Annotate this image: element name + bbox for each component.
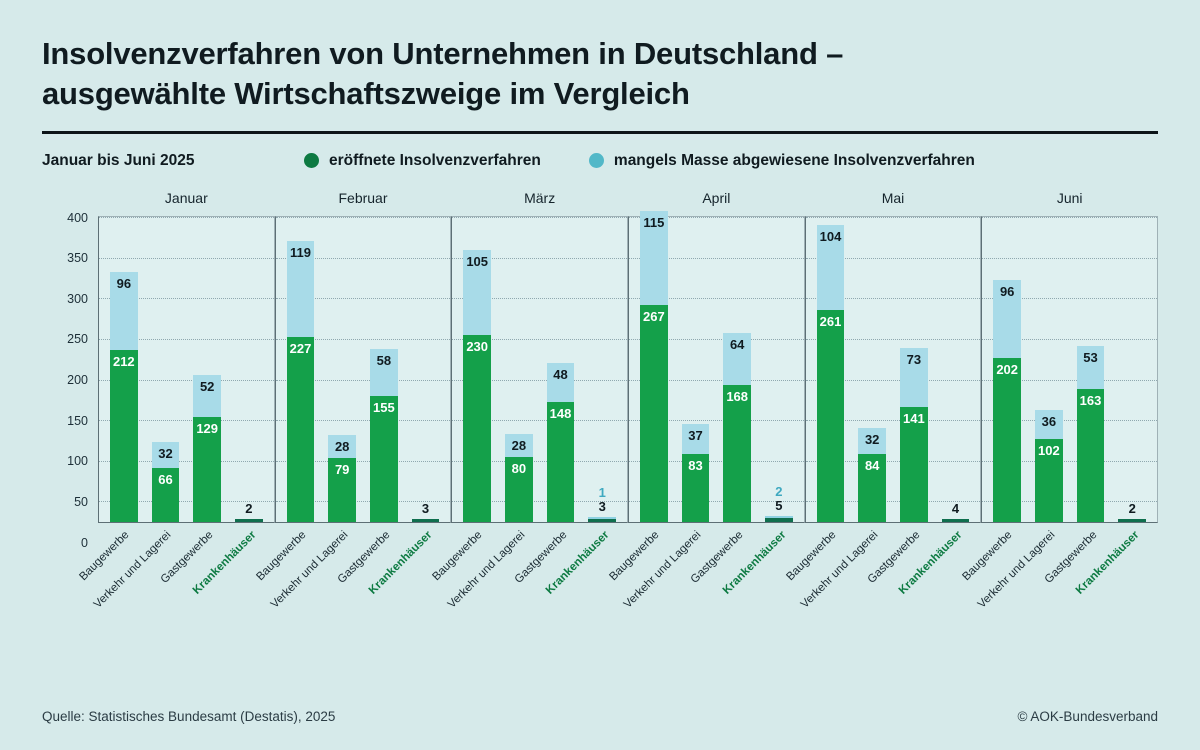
bar-value-green: 5 — [753, 499, 805, 514]
bar-value-green: 83 — [682, 459, 710, 472]
x-axis-labels: BaugewerbeVerkehr und LagereiGastgewerbe… — [451, 523, 628, 610]
bar-column[interactable]: 13 — [581, 217, 623, 522]
bar-segment-green[interactable]: 168 — [723, 385, 751, 522]
bar-value-blue: 104 — [817, 230, 845, 243]
bar-column[interactable]: 104261 — [810, 217, 852, 522]
bar-value-green: 212 — [110, 355, 138, 368]
bar-value-green: 79 — [328, 463, 356, 476]
bar-value-labels: 13 — [576, 486, 628, 517]
bar-value-blue: 1 — [576, 486, 628, 501]
bar-column[interactable]: 2 — [228, 217, 270, 522]
bar-segment-blue[interactable]: 53 — [1077, 346, 1105, 389]
bar-segment-blue[interactable]: 58 — [370, 349, 398, 396]
bar-group: 11526737836416825 — [633, 217, 800, 522]
stacked-bar[interactable]: 58155 — [370, 349, 398, 522]
bar-column[interactable]: 96202 — [986, 217, 1028, 522]
chart: 050100150200250300350400 Januar962123266… — [42, 190, 1158, 610]
panel-title: Februar — [275, 190, 452, 216]
bar-value-blue: 2 — [753, 485, 805, 500]
legend-dot-green-icon — [304, 153, 319, 168]
bar-segment-green[interactable]: 83 — [682, 454, 710, 521]
bar-value-blue: 28 — [328, 440, 356, 453]
bar-segment-blue[interactable]: 105 — [463, 250, 491, 335]
bar-value-green: 168 — [723, 390, 751, 403]
bar-value-labels: 2 — [1106, 502, 1158, 519]
plot-area: 1042613284731414 — [805, 216, 982, 523]
bar-segment-green[interactable] — [1118, 519, 1146, 522]
copyright-note: © AOK-Bundesverband — [1017, 709, 1158, 724]
bar-column[interactable]: 64168 — [716, 217, 758, 522]
bar-segment-green[interactable]: 230 — [463, 335, 491, 522]
stacked-bar[interactable]: 4 — [942, 519, 970, 522]
bar-segment-green[interactable]: 267 — [640, 305, 668, 522]
bar-value-green: 202 — [993, 363, 1021, 376]
bar-segment-green[interactable] — [412, 519, 440, 522]
source-note: Quelle: Statistisches Bundesamt (Destati… — [42, 709, 335, 724]
stacked-bar[interactable]: 3284 — [858, 428, 886, 522]
bar-value-blue: 37 — [682, 429, 710, 442]
bar-value-blue: 53 — [1077, 351, 1105, 364]
bar-group: 1192272879581553 — [280, 217, 447, 522]
bar-value-green: 230 — [463, 340, 491, 353]
stacked-bar[interactable]: 2879 — [328, 435, 356, 522]
bar-column[interactable]: 4 — [935, 217, 977, 522]
bar-segment-green[interactable]: 102 — [1035, 439, 1063, 522]
y-axis-tick-100: 100 — [42, 454, 88, 468]
legend-item-eroeffnete: eröffnete Insolvenzverfahren — [304, 152, 541, 170]
panel-title: März — [451, 190, 628, 216]
bar-column[interactable]: 115267 — [633, 217, 675, 522]
panel-title: Januar — [98, 190, 275, 216]
x-axis-labels: BaugewerbeVerkehr und LagereiGastgewerbe… — [981, 523, 1158, 610]
bar-value-blue: 73 — [900, 353, 928, 366]
bar-value-green: 155 — [370, 401, 398, 414]
chart-panels: Januar962123266521292BaugewerbeVerkehr u… — [98, 190, 1158, 610]
bar-column[interactable]: 73141 — [893, 217, 935, 522]
x-axis-labels: BaugewerbeVerkehr und LagereiGastgewerbe… — [98, 523, 275, 610]
bar-segment-blue[interactable]: 104 — [817, 225, 845, 310]
page-title: Insolvenzverfahren von Unternehmen in De… — [42, 0, 1158, 115]
bar-column[interactable]: 3783 — [675, 217, 717, 522]
legend: Januar bis Juni 2025 eröffnete Insolvenz… — [42, 148, 1158, 174]
bar-value-blue: 119 — [287, 246, 315, 259]
bar-segment-blue[interactable]: 37 — [682, 424, 710, 454]
bar-value-green: 148 — [547, 407, 575, 420]
bar-segment-blue[interactable]: 73 — [900, 348, 928, 407]
bar-segment-blue[interactable]: 32 — [152, 442, 180, 468]
bar-value-green: 84 — [858, 459, 886, 472]
y-axis: 050100150200250300350400 — [42, 190, 88, 515]
bar-value-blue: 32 — [152, 447, 180, 460]
y-axis-tick-250: 250 — [42, 332, 88, 346]
bar-value-green: 227 — [287, 342, 315, 355]
bar-value-blue: 48 — [547, 368, 575, 381]
bar-value-blue: 32 — [858, 433, 886, 446]
bar-column[interactable]: 119227 — [280, 217, 322, 522]
x-axis-labels: BaugewerbeVerkehr und LagereiGastgewerbe… — [805, 523, 982, 610]
x-axis-labels: BaugewerbeVerkehr und LagereiGastgewerbe… — [628, 523, 805, 610]
panel-februar: Februar1192272879581553BaugewerbeVerkehr… — [275, 190, 452, 610]
bar-segment-green[interactable]: 227 — [287, 337, 315, 521]
bar-value-blue: 36 — [1035, 415, 1063, 428]
bar-segment-green[interactable]: 80 — [505, 457, 533, 522]
bar-value-labels: 25 — [753, 485, 805, 516]
bar-value-blue: 96 — [993, 285, 1021, 298]
panel-märz: März10523028804814813BaugewerbeVerkehr u… — [451, 190, 628, 610]
bar-segment-blue[interactable]: 32 — [858, 428, 886, 454]
stacked-bar[interactable]: 115267 — [640, 211, 668, 521]
bar-value-green: 267 — [640, 310, 668, 323]
bar-value-green: 4 — [930, 502, 982, 517]
bar-column[interactable]: 53163 — [1070, 217, 1112, 522]
title-divider — [42, 131, 1158, 134]
bar-column[interactable]: 105230 — [456, 217, 498, 522]
bar-value-blue: 96 — [110, 277, 138, 290]
bar-value-green: 102 — [1035, 444, 1063, 457]
y-axis-tick-50: 50 — [42, 495, 88, 509]
bar-segment-green[interactable]: 261 — [817, 310, 845, 522]
bar-value-blue: 28 — [505, 439, 533, 452]
y-axis-tick-400: 400 — [42, 211, 88, 225]
bar-column[interactable]: 2 — [1111, 217, 1153, 522]
bar-segment-blue[interactable]: 36 — [1035, 410, 1063, 439]
bar-column[interactable]: 52129 — [186, 217, 228, 522]
bar-column[interactable]: 36102 — [1028, 217, 1070, 522]
stacked-bar[interactable]: 3 — [412, 519, 440, 522]
plot-area: 11526737836416825 — [628, 216, 805, 523]
stacked-bar[interactable]: 2 — [1118, 519, 1146, 522]
stacked-bar[interactable]: 13 — [588, 517, 616, 522]
bar-segment-green[interactable]: 163 — [1077, 389, 1105, 521]
stacked-bar[interactable]: 64168 — [723, 333, 751, 522]
bar-segment-green[interactable] — [765, 518, 793, 522]
stacked-bar[interactable]: 119227 — [287, 241, 315, 522]
legend-label-abgewiesene: mangels Masse abgewiesene Insolvenzverfa… — [614, 152, 975, 170]
bar-group: 1042613284731414 — [810, 217, 977, 522]
y-axis-tick-0: 0 — [42, 536, 88, 550]
stacked-bar[interactable]: 96212 — [110, 272, 138, 522]
bar-value-green: 129 — [193, 422, 221, 435]
bar-value-green: 261 — [817, 315, 845, 328]
bar-segment-blue[interactable]: 115 — [640, 211, 668, 304]
bar-value-green: 2 — [1106, 502, 1158, 517]
stacked-bar[interactable]: 2 — [235, 519, 263, 522]
x-axis-labels: BaugewerbeVerkehr und LagereiGastgewerbe… — [275, 523, 452, 610]
stacked-bar[interactable]: 2880 — [505, 434, 533, 522]
bar-value-green: 80 — [505, 462, 533, 475]
bar-value-green: 2 — [223, 502, 275, 517]
panel-juni: Juni9620236102531632BaugewerbeVerkehr un… — [981, 190, 1158, 610]
bar-segment-blue[interactable]: 96 — [110, 272, 138, 350]
bar-column[interactable]: 48148 — [540, 217, 582, 522]
stacked-bar[interactable]: 3266 — [152, 442, 180, 522]
panel-april: April11526737836416825BaugewerbeVerkehr … — [628, 190, 805, 610]
bar-value-blue: 64 — [723, 338, 751, 351]
bar-column[interactable]: 2879 — [321, 217, 363, 522]
bar-value-green: 141 — [900, 412, 928, 425]
bar-segment-green[interactable]: 202 — [993, 358, 1021, 522]
plot-area: 1192272879581553 — [275, 216, 452, 523]
bar-value-labels: 2 — [223, 502, 275, 519]
bar-segment-green[interactable]: 155 — [370, 396, 398, 522]
stacked-bar[interactable]: 52129 — [193, 375, 221, 522]
bar-value-labels: 3 — [400, 502, 452, 519]
bar-segment-blue[interactable]: 48 — [547, 363, 575, 402]
bar-segment-green[interactable]: 129 — [193, 417, 221, 522]
period-label: Januar bis Juni 2025 — [42, 152, 304, 170]
stacked-bar[interactable]: 36102 — [1035, 410, 1063, 522]
bar-segment-blue[interactable]: 28 — [328, 435, 356, 458]
stacked-bar[interactable]: 104261 — [817, 225, 845, 522]
infographic-page: Insolvenzverfahren von Unternehmen in De… — [0, 0, 1200, 750]
bar-value-green: 3 — [400, 502, 452, 517]
y-axis-tick-200: 200 — [42, 373, 88, 387]
bar-column[interactable]: 96212 — [103, 217, 145, 522]
bar-segment-green[interactable]: 79 — [328, 458, 356, 522]
bar-group: 962123266521292 — [103, 217, 270, 522]
bar-value-green: 66 — [152, 473, 180, 486]
bar-column[interactable]: 3284 — [851, 217, 893, 522]
bar-group: 9620236102531632 — [986, 217, 1153, 522]
bar-segment-blue[interactable]: 28 — [505, 434, 533, 457]
panel-title: Mai — [805, 190, 982, 216]
bar-segment-green[interactable] — [942, 519, 970, 522]
bar-segment-blue[interactable]: 119 — [287, 241, 315, 338]
bar-column[interactable]: 25 — [758, 217, 800, 522]
y-axis-tick-300: 300 — [42, 292, 88, 306]
bar-value-blue: 52 — [193, 380, 221, 393]
legend-dot-blue-icon — [589, 153, 604, 168]
bar-segment-blue[interactable]: 64 — [723, 333, 751, 385]
bar-segment-green[interactable]: 66 — [152, 468, 180, 522]
panel-title: Juni — [981, 190, 1158, 216]
plot-area: 10523028804814813 — [451, 216, 628, 523]
bar-segment-green[interactable]: 141 — [900, 407, 928, 522]
bar-segment-green[interactable] — [588, 519, 616, 522]
y-axis-tick-350: 350 — [42, 251, 88, 265]
stacked-bar[interactable]: 25 — [765, 516, 793, 522]
plot-area: 9620236102531632 — [981, 216, 1158, 523]
bar-segment-green[interactable]: 84 — [858, 454, 886, 522]
y-axis-tick-150: 150 — [42, 414, 88, 428]
bar-column[interactable]: 2880 — [498, 217, 540, 522]
footer: Quelle: Statistisches Bundesamt (Destati… — [42, 709, 1158, 724]
stacked-bar[interactable]: 53163 — [1077, 346, 1105, 522]
bar-group: 10523028804814813 — [456, 217, 623, 522]
plot-area: 962123266521292 — [98, 216, 275, 523]
bar-column[interactable]: 3 — [405, 217, 447, 522]
bar-segment-green[interactable]: 148 — [547, 402, 575, 522]
x-label-slot: Krankenhäuser — [1112, 523, 1154, 610]
stacked-bar[interactable]: 3783 — [682, 424, 710, 522]
bar-value-green: 163 — [1077, 394, 1105, 407]
bar-value-blue: 105 — [463, 255, 491, 268]
bar-segment-blue[interactable]: 96 — [993, 280, 1021, 358]
legend-label-eroeffnete: eröffnete Insolvenzverfahren — [329, 152, 541, 170]
bar-segment-green[interactable]: 212 — [110, 350, 138, 522]
legend-item-abgewiesene: mangels Masse abgewiesene Insolvenzverfa… — [589, 152, 975, 170]
bar-column[interactable]: 58155 — [363, 217, 405, 522]
stacked-bar[interactable]: 96202 — [993, 280, 1021, 522]
bar-value-blue: 58 — [370, 354, 398, 367]
bar-column[interactable]: 3266 — [145, 217, 187, 522]
bar-value-green: 3 — [576, 500, 628, 515]
bar-segment-green[interactable] — [235, 519, 263, 522]
panel-mai: Mai1042613284731414BaugewerbeVerkehr und… — [805, 190, 982, 610]
panel-januar: Januar962123266521292BaugewerbeVerkehr u… — [98, 190, 275, 610]
stacked-bar[interactable]: 105230 — [463, 250, 491, 522]
bar-value-blue: 115 — [640, 216, 668, 229]
bar-value-labels: 4 — [930, 502, 982, 519]
bar-segment-blue[interactable]: 52 — [193, 375, 221, 417]
stacked-bar[interactable]: 48148 — [547, 363, 575, 522]
stacked-bar[interactable]: 73141 — [900, 348, 928, 522]
